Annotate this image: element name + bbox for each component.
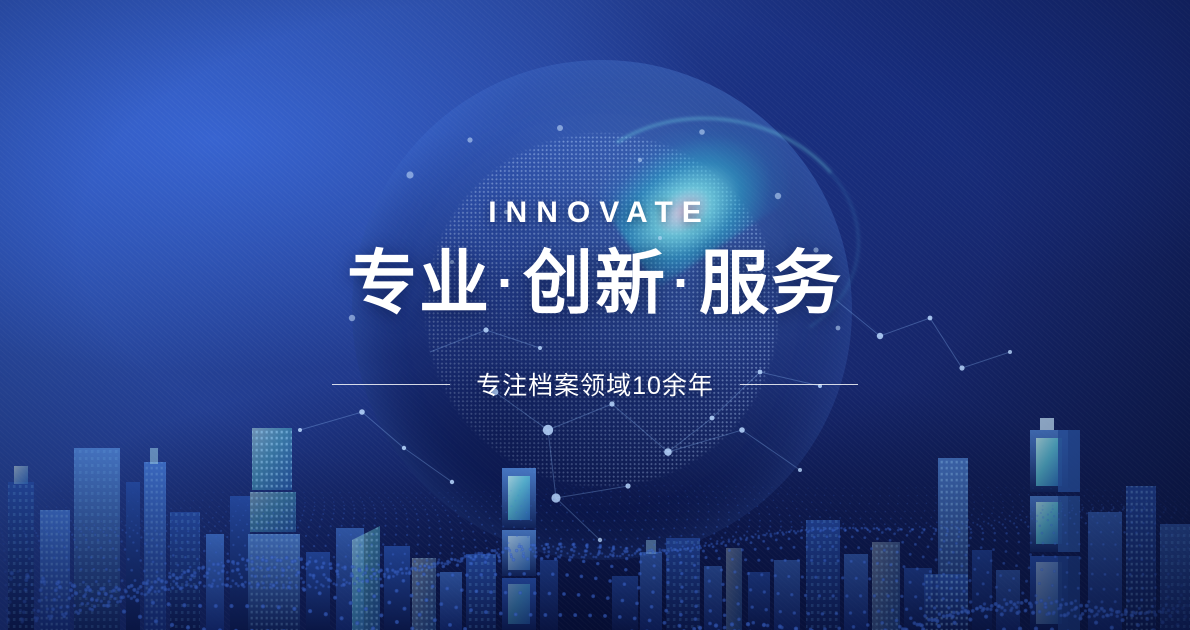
globe-edge-arc [551,99,875,372]
headline-part-3: 服务 [699,244,843,322]
city-skyline-left [8,428,558,630]
hero-banner: INNOVATE 专业·创新·服务 专注档案领域10余年 [0,0,1190,630]
headline-part-1: 专业 [347,244,491,322]
city-skyline-right [612,418,1190,630]
headline-part-2: 创新 [523,244,667,322]
headline-separator-1: · [491,253,523,313]
subtitle-rule-right [740,384,858,385]
subtitle-text: 专注档案领域10余年 [476,366,714,402]
eyebrow-text: INNOVATE [0,196,1190,230]
city-skyline [0,400,1190,630]
headline-separator-2: · [667,253,699,313]
subtitle-row: 专注档案领域10余年 [0,366,1190,402]
particle-wave-terrain [0,430,1190,630]
subtitle-rule-left [332,384,450,385]
page-title: 专业·创新·服务 [0,248,1190,318]
